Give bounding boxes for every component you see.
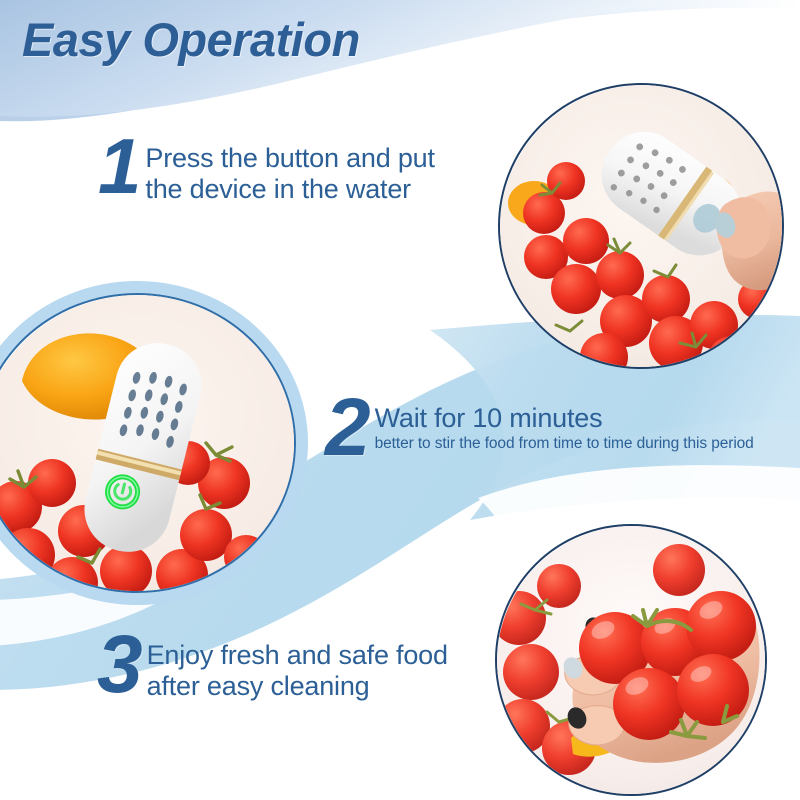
photo-step-1-device-in-water [498, 83, 784, 369]
step-2: 2 Wait for 10 minutes better to stir the… [325, 393, 754, 464]
step-2-text: Wait for 10 minutes better to stir the f… [375, 393, 754, 453]
step-1-line-1: Press the button and put [145, 143, 434, 174]
page-title: Easy Operation [22, 12, 360, 67]
infographic-page: Easy Operation [0, 0, 800, 800]
photo-step-3-clean-tomatoes [495, 524, 767, 796]
step-3: 3 Enjoy fresh and safe food after easy c… [97, 630, 448, 702]
step-3-line-1: Enjoy fresh and safe food [147, 640, 448, 671]
step-1-number: 1 [98, 133, 141, 200]
step-2-number: 2 [325, 393, 371, 464]
step-1-line-2: the device in the water [145, 174, 434, 205]
step-3-line-2: after easy cleaning [147, 671, 448, 702]
step-1: 1 Press the button and put the device in… [98, 133, 435, 205]
step-2-subtitle: better to stir the food from time to tim… [375, 435, 754, 454]
step-3-number: 3 [97, 630, 143, 701]
step-2-line-1: Wait for 10 minutes [375, 403, 754, 434]
step-1-text: Press the button and put the device in t… [145, 133, 434, 205]
step-3-text: Enjoy fresh and safe food after easy cle… [147, 630, 448, 702]
